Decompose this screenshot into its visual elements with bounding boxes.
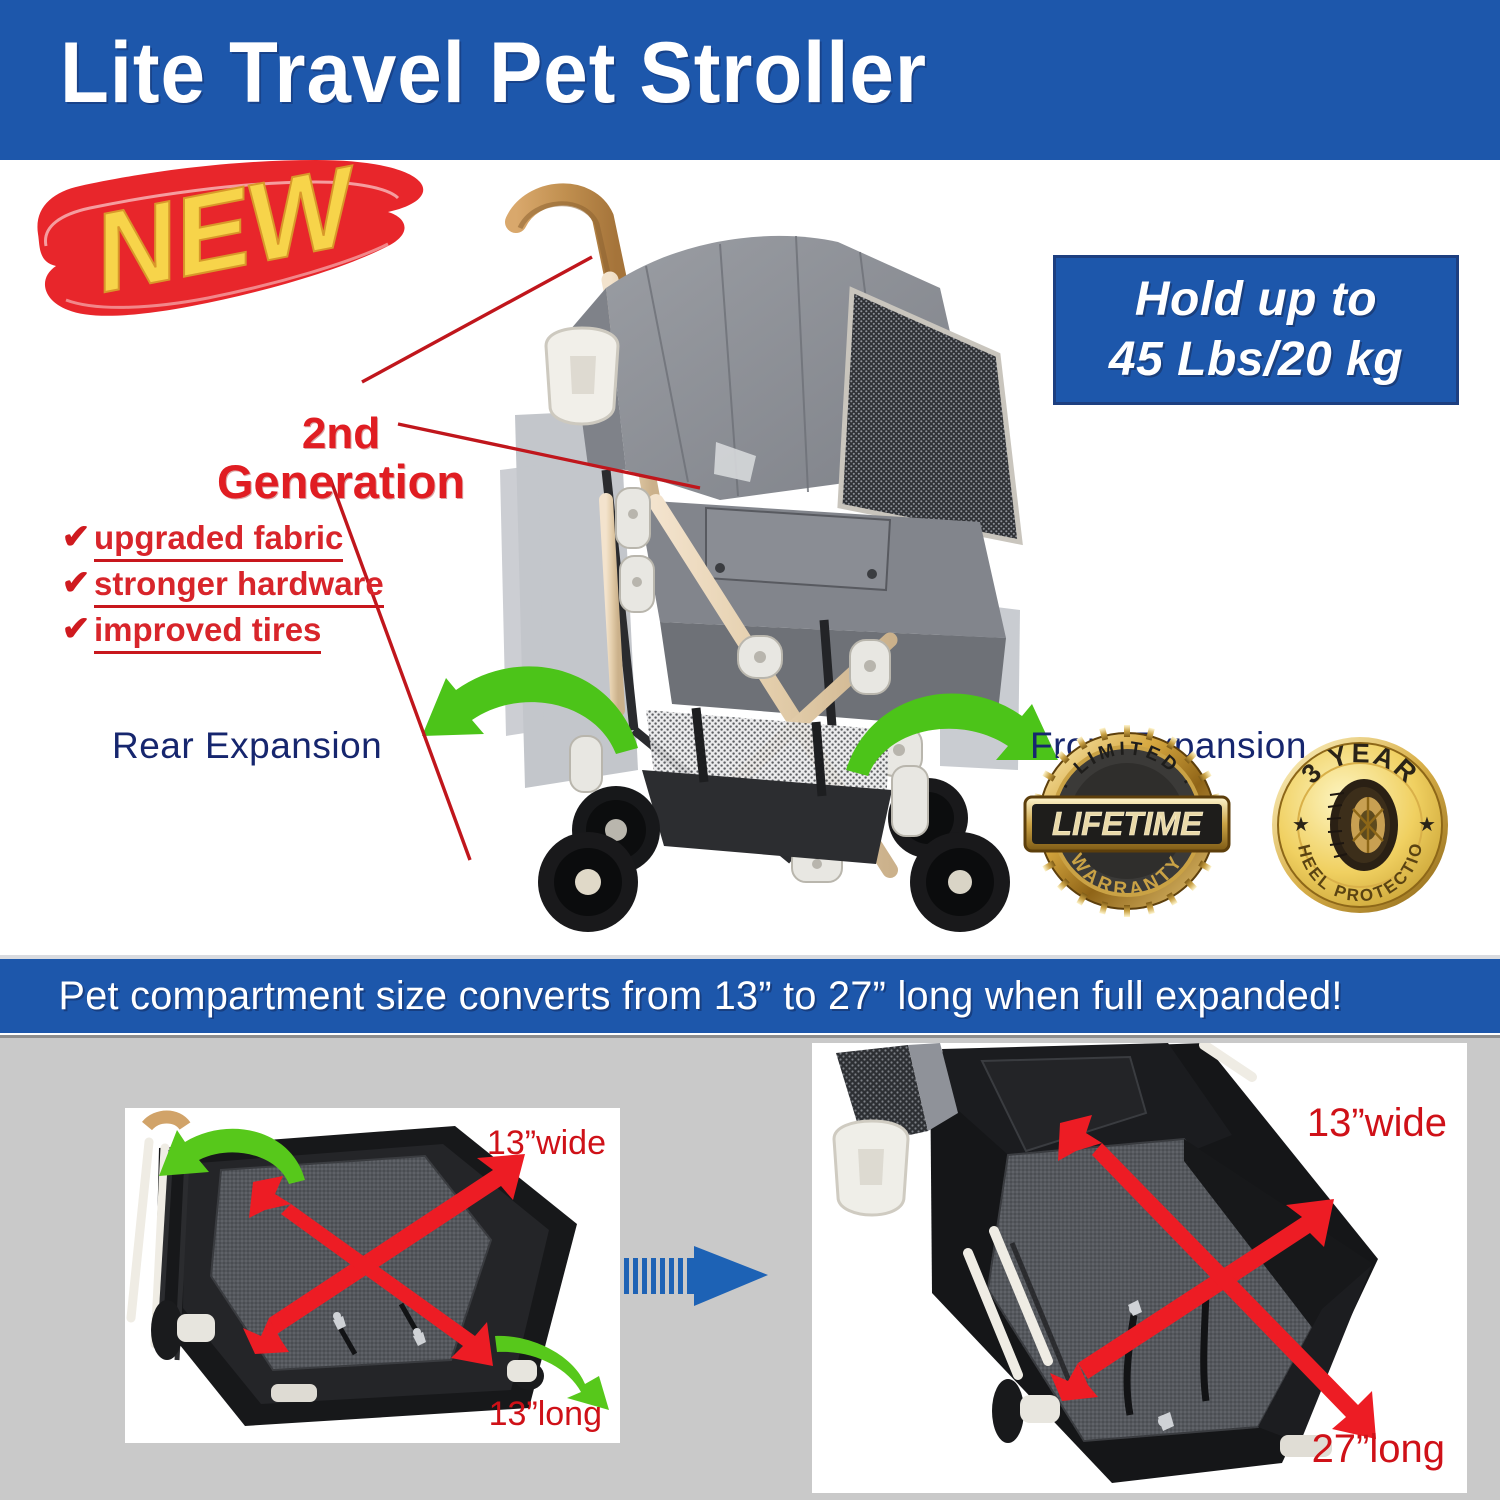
feature-label: stronger hardware bbox=[94, 564, 384, 608]
dim-label-wide: 13”wide bbox=[1307, 1101, 1447, 1145]
check-icon: ✔ bbox=[58, 610, 94, 648]
bottom-comparison-section: 13”wide 13”long bbox=[0, 1035, 1500, 1500]
mid-banner: Pet compartment size converts from 13” t… bbox=[0, 955, 1500, 1033]
dim-label-long: 13”long bbox=[489, 1395, 602, 1433]
star-right-icon: ★ bbox=[1418, 814, 1436, 836]
measure-arrows bbox=[1002, 1113, 1422, 1453]
dim-label-wide: 13”wide bbox=[487, 1124, 606, 1162]
check-icon: ✔ bbox=[58, 518, 94, 556]
mid-banner-text: Pet compartment size converts from 13” t… bbox=[58, 970, 1342, 1022]
warranty-seals: · LIMITED · · WARRANTY · LIFETIME bbox=[1022, 725, 1472, 925]
page-title: Lite Travel Pet Stroller bbox=[60, 18, 927, 128]
capacity-badge: Hold up to 45 Lbs/20 kg bbox=[1053, 255, 1459, 405]
generation-text: 2nd Generation bbox=[206, 410, 476, 506]
transition-arrow-icon bbox=[622, 1210, 802, 1340]
rear-expansion-label: Rear Expansion bbox=[112, 725, 382, 767]
wheel-protection-seal-icon: 3 YEAR WHEEL PROTECTION bbox=[1260, 731, 1460, 923]
feature-label: upgraded fabric bbox=[94, 518, 343, 562]
lifetime-warranty-seal-icon: · LIMITED · · WARRANTY · LIFETIME bbox=[1022, 725, 1232, 925]
feature-item: ✔ stronger hardware bbox=[58, 564, 478, 608]
dim-label-long: 27”long bbox=[1312, 1427, 1445, 1471]
star-left-icon: ★ bbox=[1292, 814, 1310, 836]
hero-section: NEW 2nd Generation ✔ upgraded fabric ✔ s… bbox=[0, 160, 1500, 950]
feature-list: ✔ upgraded fabric ✔ stronger hardware ✔ … bbox=[58, 518, 478, 656]
panel-expanded: 13”wide 27”long bbox=[812, 1043, 1467, 1493]
product-infographic: Lite Travel Pet Stroller bbox=[0, 0, 1500, 1500]
seal-center-text: LIFETIME bbox=[1052, 805, 1203, 842]
panel-collapsed: 13”wide 13”long bbox=[125, 1108, 620, 1443]
capacity-line2: 45 Lbs/20 kg bbox=[1109, 330, 1403, 390]
new-badge: NEW bbox=[16, 160, 436, 362]
header-band: Lite Travel Pet Stroller bbox=[0, 0, 1500, 160]
capacity-line1: Hold up to bbox=[1135, 270, 1377, 330]
feature-label: improved tires bbox=[94, 610, 321, 654]
feature-item: ✔ improved tires bbox=[58, 610, 478, 654]
feature-item: ✔ upgraded fabric bbox=[58, 518, 478, 562]
generation-line2: Generation bbox=[206, 458, 476, 506]
check-icon: ✔ bbox=[58, 564, 94, 602]
measure-arrows bbox=[225, 1128, 555, 1388]
generation-line1: 2nd bbox=[206, 410, 476, 458]
